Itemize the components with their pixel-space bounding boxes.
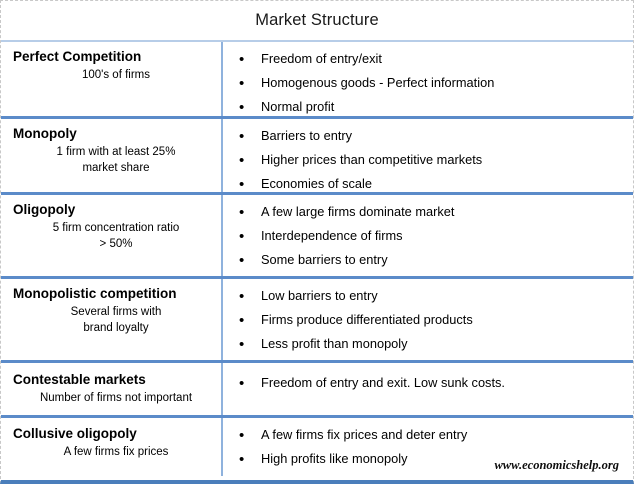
source-credit: www.economicshelp.org (494, 458, 619, 473)
market-structure-name: Monopoly (13, 126, 213, 142)
table-row: Perfect Competition 100's of firms Freed… (1, 42, 633, 119)
table-row: Oligopoly 5 firm concentration ratio > 5… (1, 195, 633, 279)
market-structure-subtitle: 1 firm with at least 25% market share (13, 142, 213, 177)
market-structure-subtitle: 5 firm concentration ratio > 50% (13, 218, 213, 253)
list-item: Freedom of entry/exit (237, 50, 627, 68)
row-label-cell: Oligopoly 5 firm concentration ratio > 5… (1, 195, 223, 276)
row-characteristics-cell: Barriers to entry Higher prices than com… (223, 119, 633, 192)
list-item: Economies of scale (237, 175, 627, 193)
market-structure-name: Collusive oligopoly (13, 426, 213, 442)
market-structure-subtitle: 100's of firms (13, 65, 213, 83)
subtitle-line: 1 firm with at least 25% (19, 144, 213, 160)
page-title: Market Structure (255, 11, 379, 30)
row-label-cell: Contestable markets Number of firms not … (1, 363, 223, 415)
subtitle-line: > 50% (19, 236, 213, 252)
row-label-cell: Collusive oligopoly A few firms fix pric… (1, 418, 223, 476)
subtitle-line: Number of firms not important (19, 390, 213, 406)
row-label-cell: Monopolistic competition Several firms w… (1, 279, 223, 360)
characteristics-list: Freedom of entry and exit. Low sunk cost… (237, 374, 627, 392)
table-title-row: Market Structure (1, 1, 633, 42)
list-item: A few large firms dominate market (237, 203, 627, 221)
list-item: Less profit than monopoly (237, 335, 627, 353)
characteristics-list: A few large firms dominate market Interd… (237, 203, 627, 269)
subtitle-line: 100's of firms (19, 67, 213, 83)
market-structure-subtitle: A few firms fix prices (13, 442, 213, 460)
characteristics-list: Barriers to entry Higher prices than com… (237, 127, 627, 193)
subtitle-line: 5 firm concentration ratio (19, 220, 213, 236)
market-structure-subtitle: Number of firms not important (13, 388, 213, 406)
list-item: Low barriers to entry (237, 287, 627, 305)
row-label-cell: Perfect Competition 100's of firms (1, 42, 223, 116)
row-characteristics-cell: Freedom of entry/exit Homogenous goods -… (223, 42, 633, 116)
list-item: Some barriers to entry (237, 251, 627, 269)
subtitle-line: brand loyalty (19, 320, 213, 336)
market-structure-name: Perfect Competition (13, 49, 213, 65)
characteristics-list: Low barriers to entry Firms produce diff… (237, 287, 627, 353)
market-structure-name: Monopolistic competition (13, 286, 213, 302)
market-structure-name: Oligopoly (13, 202, 213, 218)
row-characteristics-cell: Freedom of entry and exit. Low sunk cost… (223, 363, 633, 415)
list-item: Homogenous goods - Perfect information (237, 74, 627, 92)
list-item: Barriers to entry (237, 127, 627, 145)
table-row: Contestable markets Number of firms not … (1, 363, 633, 418)
list-item: Normal profit (237, 98, 627, 116)
list-item: Interdependence of firms (237, 227, 627, 245)
market-structure-subtitle: Several firms with brand loyalty (13, 302, 213, 337)
characteristics-list: Freedom of entry/exit Homogenous goods -… (237, 50, 627, 116)
row-characteristics-cell: A few large firms dominate market Interd… (223, 195, 633, 276)
row-label-cell: Monopoly 1 firm with at least 25% market… (1, 119, 223, 192)
list-item: Firms produce differentiated products (237, 311, 627, 329)
market-structure-table: Market Structure Perfect Competition 100… (0, 0, 634, 484)
subtitle-line: market share (19, 160, 213, 176)
list-item: A few firms fix prices and deter entry (237, 426, 627, 444)
subtitle-line: Several firms with (19, 304, 213, 320)
market-structure-name: Contestable markets (13, 372, 213, 388)
table-row: Monopoly 1 firm with at least 25% market… (1, 119, 633, 195)
list-item: Freedom of entry and exit. Low sunk cost… (237, 374, 627, 392)
table-row: Monopolistic competition Several firms w… (1, 279, 633, 363)
subtitle-line: A few firms fix prices (19, 444, 213, 460)
row-characteristics-cell: Low barriers to entry Firms produce diff… (223, 279, 633, 360)
list-item: Higher prices than competitive markets (237, 151, 627, 169)
